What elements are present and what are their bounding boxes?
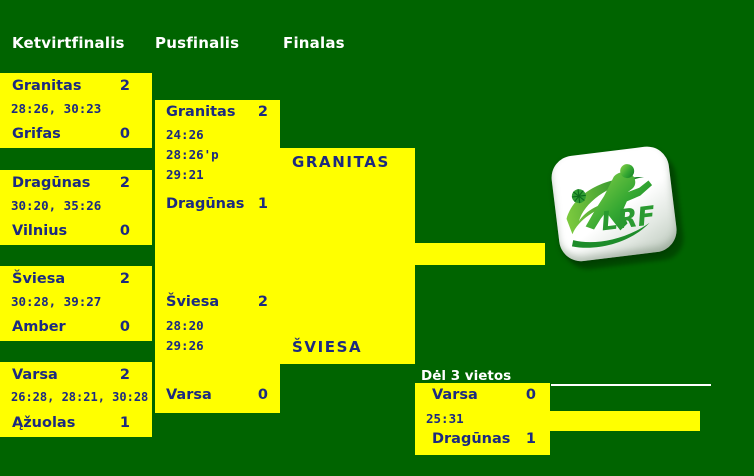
sf2-score-2: 29:26 [155, 338, 280, 353]
qf1-away-team: Grifas [12, 126, 61, 142]
quarterfinal-match-3[interactable]: Šviesa 2 30:28, 39:27 Amber 0 [0, 266, 152, 341]
qf4-scores: 26:28, 28:21, 30:28 [0, 390, 152, 404]
qf2-away-row: Vilnius 0 [0, 218, 152, 244]
third-away-points: 1 [526, 431, 536, 447]
sf1-away-points: 1 [258, 196, 268, 212]
qf2-away-team: Vilnius [12, 223, 67, 239]
quarterfinal-match-2[interactable]: Dragūnas 2 30:20, 35:26 Vilnius 0 [0, 170, 152, 245]
qf3-home-row: Šviesa 2 [0, 266, 152, 292]
qf2-away-points: 0 [120, 223, 130, 239]
sf2-score-1: 28:20 [155, 318, 280, 333]
sf2-away-points: 0 [258, 387, 268, 403]
qf1-scores: 28:26, 30:23 [0, 101, 152, 116]
qf4-away-points: 1 [120, 415, 130, 431]
logo-tile: LRF [549, 144, 679, 264]
qf2-home-points: 2 [120, 175, 130, 191]
semifinal-match-1[interactable]: Granitas 2 24:26 28:26'p 29:21 Dragūnas … [155, 100, 280, 223]
qf3-scores: 30:28, 39:27 [0, 294, 152, 309]
sf1-home-points: 2 [258, 104, 268, 120]
qf4-away-row: Ąžuolas 1 [0, 410, 152, 436]
sf2-away-team: Varsa [155, 387, 212, 403]
bracket-canvas: Ketvirtfinalis Pusfinalis Finalas Granit… [0, 0, 754, 476]
sf1-score-2: 28:26'p [155, 147, 280, 162]
sf1-away-team: Dragūnas [155, 196, 244, 212]
third-place-divider-line [551, 384, 711, 386]
quarterfinal-match-4[interactable]: Varsa 2 26:28, 28:21, 30:28 Ąžuolas 1 [0, 362, 152, 437]
semifinal-match-2[interactable]: Šviesa 2 28:20 29:26 Varsa 0 [155, 283, 280, 413]
qf1-home-row: Granitas 2 [0, 73, 152, 99]
third-place-title: Dėl 3 vietos [421, 368, 511, 384]
qf2-home-team: Dragūnas [12, 175, 90, 191]
third-score: 25:31 [415, 411, 550, 426]
lrf-handball-logo: LRF [549, 142, 695, 279]
qf4-away-team: Ąžuolas [12, 415, 75, 431]
finalist-2-name: ŠVIESA [292, 338, 362, 356]
qf4-home-row: Varsa 2 [0, 362, 152, 388]
sf1-home-team: Granitas [155, 104, 235, 120]
qf1-home-points: 2 [120, 78, 130, 94]
third-home-points: 0 [526, 387, 536, 403]
connector-final-to-champion [415, 243, 545, 265]
third-away-team: Dragūnas [421, 431, 510, 447]
column-header-final: Finalas [283, 34, 345, 52]
qf3-home-team: Šviesa [12, 271, 65, 287]
qf4-home-points: 2 [120, 367, 130, 383]
qf4-home-team: Varsa [12, 367, 58, 383]
finalist-1-name: GRANITAS [292, 153, 390, 171]
column-header-semifinals: Pusfinalis [155, 34, 239, 52]
column-header-quarterfinals: Ketvirtfinalis [12, 34, 125, 52]
qf3-away-points: 0 [120, 319, 130, 335]
qf2-home-row: Dragūnas 2 [0, 170, 152, 196]
quarterfinal-match-1[interactable]: Granitas 2 28:26, 30:23 Grifas 0 [0, 73, 152, 148]
connector-sf1-to-final [155, 223, 280, 283]
qf2-scores: 30:20, 35:26 [0, 198, 152, 213]
third-home-team: Varsa [421, 387, 478, 403]
qf3-home-points: 2 [120, 271, 130, 287]
connector-third-place-arm [550, 411, 700, 431]
sf2-home-team: Šviesa [155, 294, 219, 310]
final-match-block[interactable]: GRANITAS ŠVIESA [280, 148, 415, 364]
third-place-match[interactable]: Varsa 0 25:31 Dragūnas 1 [415, 383, 550, 455]
sf1-score-1: 24:26 [155, 127, 280, 142]
qf3-away-row: Amber 0 [0, 314, 152, 340]
qf1-away-row: Grifas 0 [0, 121, 152, 147]
handball-player-icon: LRF [549, 144, 679, 264]
sf1-score-3: 29:21 [155, 167, 280, 182]
sf2-home-points: 2 [258, 294, 268, 310]
logo-wordmark: LRF [599, 201, 657, 237]
qf3-away-team: Amber [12, 319, 66, 335]
qf1-away-points: 0 [120, 126, 130, 142]
qf1-home-team: Granitas [12, 78, 81, 94]
